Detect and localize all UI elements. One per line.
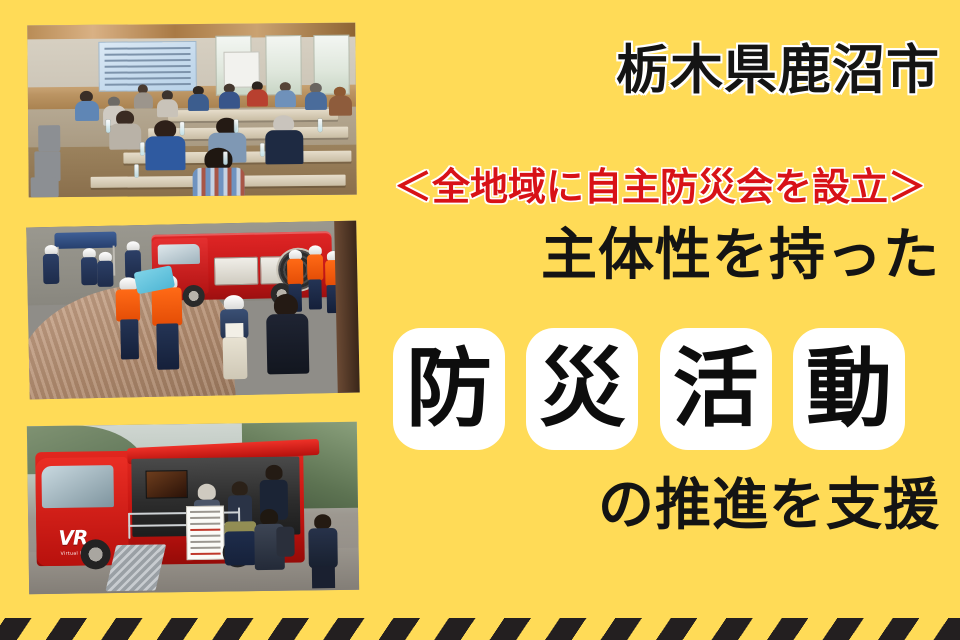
page-title-city: 栃木県鹿沼市	[560, 44, 940, 97]
keyword-box-row: 防 災 活 動	[393, 328, 905, 450]
keyword-box-bou: 防	[393, 328, 505, 450]
tagline-line-2: の推進を支援	[440, 478, 940, 534]
tagline-line-1: 主体性を持った	[440, 228, 940, 284]
keyword-box-katsu: 活	[660, 328, 772, 450]
truck-info-poster	[186, 506, 225, 561]
photo-seminar	[27, 23, 356, 198]
keyword-box-dou: 動	[793, 328, 905, 450]
photo-disaster-drill	[26, 221, 360, 400]
subheading-bracketed: ＜全地域に自主防災会を設立＞	[380, 168, 940, 206]
photo-vr-truck: VR Virtual Reality	[27, 422, 359, 595]
poster-canvas: VR Virtual Reality	[0, 0, 960, 640]
projector-screen	[99, 42, 195, 91]
keyword-box-sai: 災	[526, 328, 638, 450]
hazard-stripe-band	[0, 618, 960, 640]
